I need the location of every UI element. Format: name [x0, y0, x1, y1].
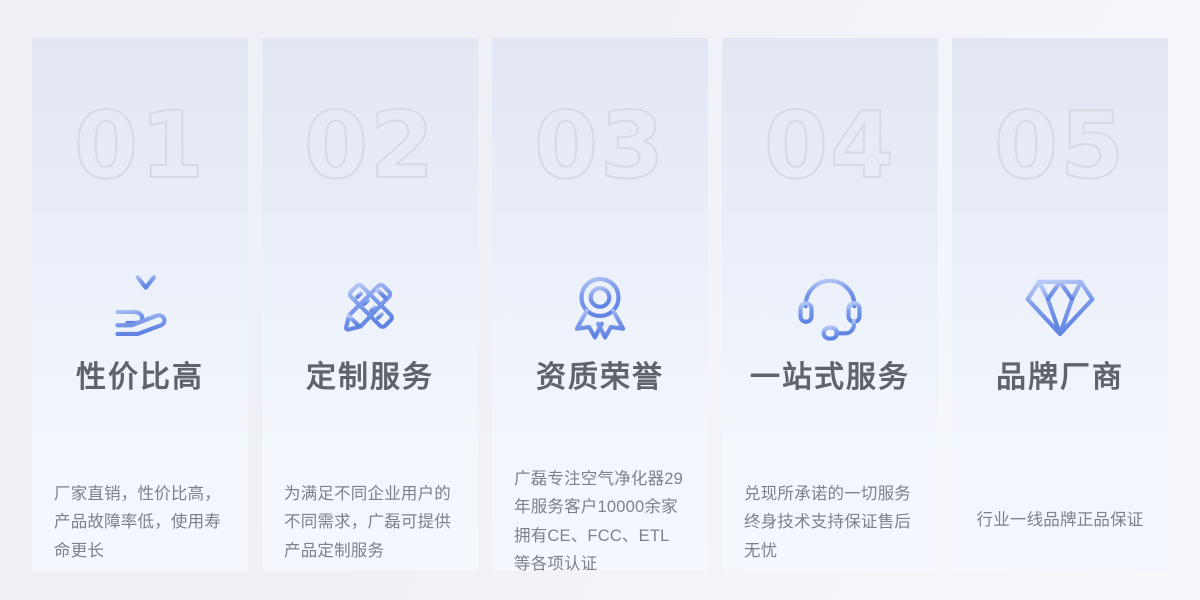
- card-title: 资质荣誉: [492, 360, 708, 396]
- card-number-badge: 04: [722, 100, 938, 192]
- card-number-badge: 02: [262, 100, 478, 192]
- card-title: 品牌厂商: [952, 360, 1168, 396]
- card-number-badge: 05: [952, 100, 1168, 192]
- feature-card-3[interactable]: 03 资质荣誉 广磊专注空气净化器29年服务客户100: [492, 38, 708, 571]
- headset-icon: [722, 260, 938, 350]
- card-description: 厂家直销，性价比高，产品故障率低，使用寿命更长: [32, 480, 248, 565]
- feature-card-1[interactable]: 01: [32, 38, 248, 571]
- pencil-ruler-icon: [262, 260, 478, 350]
- card-title: 一站式服务: [722, 360, 938, 396]
- card-description: 为满足不同企业用户的不同需求，广磊可提供产品定制服务: [262, 480, 478, 565]
- hand-holding-yuan-icon: [32, 260, 248, 350]
- feature-card-5[interactable]: 05 品牌厂商 行业一线品牌正品: [952, 38, 1168, 571]
- card-description: 兑现所承诺的一切服务终身技术支持保证售后无忧: [722, 480, 938, 565]
- card-description: 行业一线品牌正品保证: [952, 506, 1168, 534]
- card-title: 性价比高: [32, 360, 248, 396]
- features-strip: 01: [0, 0, 1200, 600]
- card-number-badge: 03: [492, 100, 708, 192]
- diamond-icon: [952, 260, 1168, 350]
- feature-card-2[interactable]: 02: [262, 38, 478, 571]
- card-number-badge: 01: [32, 100, 248, 192]
- feature-card-4[interactable]: 04 一站式服务 兑现所承诺的一: [722, 38, 938, 571]
- award-ribbon-icon: [492, 260, 708, 350]
- card-description: 广磊专注空气净化器29年服务客户10000余家拥有CE、FCC、ETL等各项认证: [492, 465, 708, 571]
- card-title: 定制服务: [262, 360, 478, 396]
